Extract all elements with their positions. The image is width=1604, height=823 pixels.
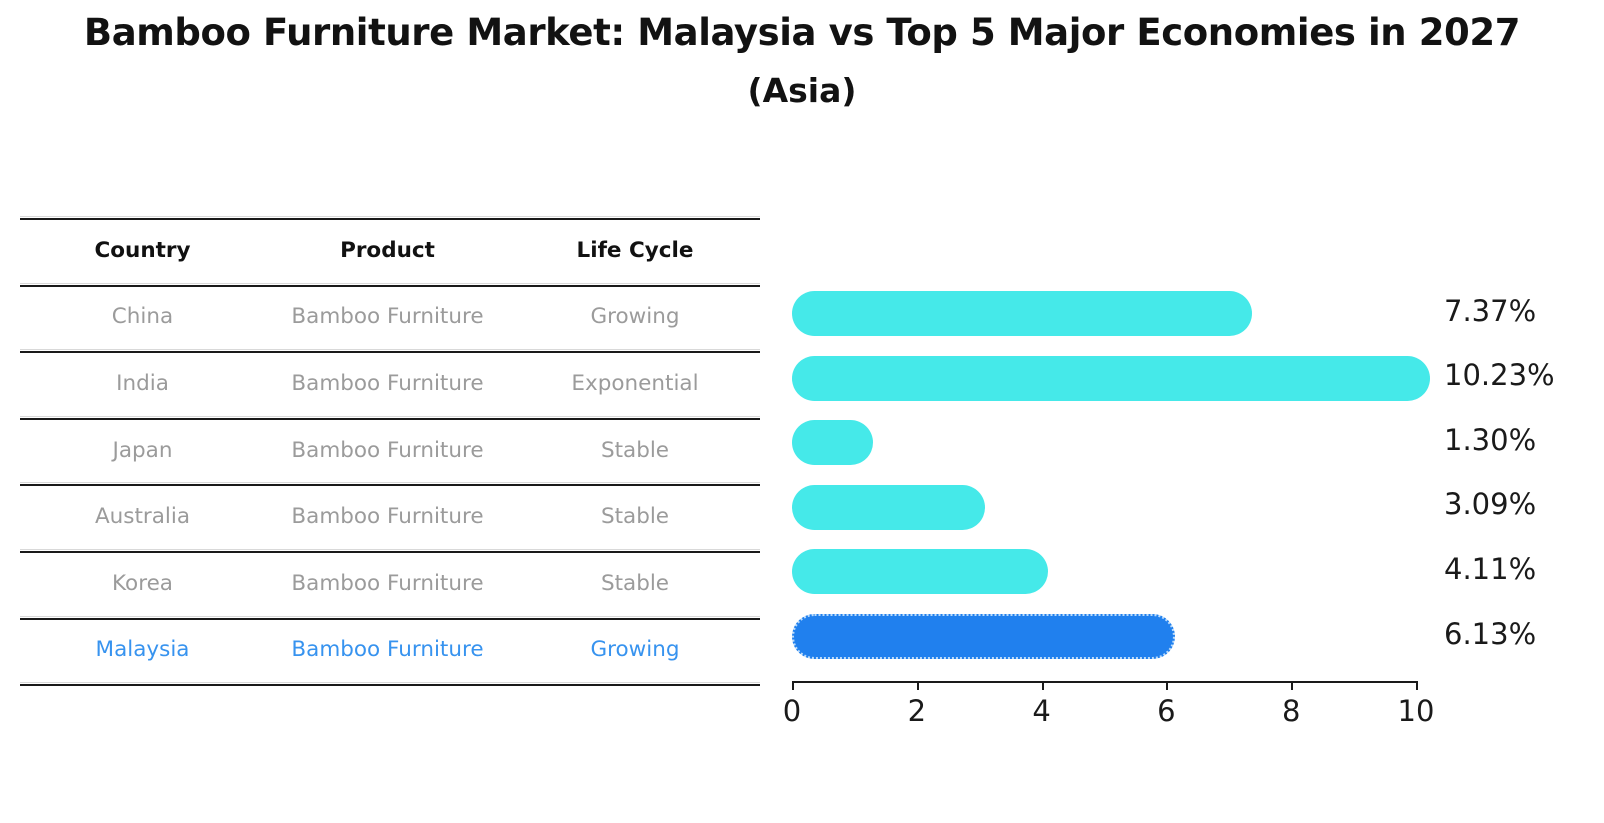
x-axis-tick-label: 6 xyxy=(1136,694,1196,728)
table-row-india-product: Bamboo Furniture xyxy=(265,371,510,396)
x-axis-tick-label: 0 xyxy=(762,694,822,728)
table-row-korea[interactable]: KoreaBamboo FurnitureStable xyxy=(20,551,760,616)
x-axis-tick-label: 2 xyxy=(887,694,947,728)
value-label-india: 10.23% xyxy=(1444,358,1555,392)
bar-japan[interactable] xyxy=(792,420,873,465)
table-row-malaysia-product: Bamboo Furniture xyxy=(265,637,510,662)
table-header-row[interactable]: CountryProductLife Cycle xyxy=(20,218,760,283)
table-row-korea-product: Bamboo Furniture xyxy=(265,571,510,596)
value-label-malaysia: 6.13% xyxy=(1444,617,1536,651)
bar-korea[interactable] xyxy=(792,549,1048,594)
table-row-korea-life-cycle: Stable xyxy=(510,571,760,596)
table-divider xyxy=(20,416,760,417)
table-row-india-country: India xyxy=(20,371,265,396)
table-header-row-product: Product xyxy=(265,238,510,263)
table-row-malaysia-country: Malaysia xyxy=(20,637,265,662)
table-row-australia[interactable]: AustraliaBamboo FurnitureStable xyxy=(20,484,760,549)
table-row-australia-country: Australia xyxy=(20,504,265,529)
bars-layer xyxy=(766,216,1436,682)
table-row-china-product: Bamboo Furniture xyxy=(265,304,510,329)
table-row-japan[interactable]: JapanBamboo FurnitureStable xyxy=(20,418,760,483)
x-axis-line xyxy=(792,681,1418,683)
table-row-korea-country: Korea xyxy=(20,571,265,596)
page-title: Bamboo Furniture Market: Malaysia vs Top… xyxy=(0,8,1604,58)
table-divider xyxy=(20,216,760,217)
table-row-malaysia-life-cycle: Growing xyxy=(510,637,760,662)
table-row-malaysia[interactable]: MalaysiaBamboo FurnitureGrowing xyxy=(20,618,760,683)
page-subtitle: (Asia) xyxy=(0,67,1604,115)
x-axis-tick xyxy=(792,681,794,690)
value-label-china: 7.37% xyxy=(1444,294,1536,328)
table-row-china-life-cycle: Growing xyxy=(510,304,760,329)
value-label-korea: 4.11% xyxy=(1444,552,1536,586)
table-row-australia-product: Bamboo Furniture xyxy=(265,504,510,529)
table-row-china-country: China xyxy=(20,304,265,329)
chart-page: Bamboo Furniture Market: Malaysia vs Top… xyxy=(0,0,1604,823)
table-row-japan-product: Bamboo Furniture xyxy=(265,438,510,463)
x-axis-tick xyxy=(917,681,919,690)
table-divider xyxy=(20,482,760,483)
table-row-india[interactable]: IndiaBamboo FurnitureExponential xyxy=(20,351,760,416)
table-header-row-country: Country xyxy=(20,238,265,263)
table-row-china[interactable]: ChinaBamboo FurnitureGrowing xyxy=(20,285,760,350)
table-divider xyxy=(20,682,760,683)
x-axis-tick-label: 8 xyxy=(1261,694,1321,728)
title-block: Bamboo Furniture Market: Malaysia vs Top… xyxy=(0,8,1604,115)
value-label-japan: 1.30% xyxy=(1444,423,1536,457)
table-divider xyxy=(20,684,760,686)
value-label-australia: 3.09% xyxy=(1444,487,1536,521)
value-labels-layer: 7.37%10.23%1.30%3.09%4.11%6.13% xyxy=(1444,216,1604,682)
x-axis-tick-label: 4 xyxy=(1012,694,1072,728)
country-table: CountryProductLife CycleChinaBamboo Furn… xyxy=(20,216,760,680)
table-divider xyxy=(20,616,760,617)
bar-australia[interactable] xyxy=(792,485,985,530)
x-axis-tick-label: 10 xyxy=(1386,694,1446,728)
x-axis-tick xyxy=(1416,681,1418,690)
table-row-japan-country: Japan xyxy=(20,438,265,463)
x-axis-tick xyxy=(1042,681,1044,690)
x-axis-tick xyxy=(1166,681,1168,690)
x-axis-tick xyxy=(1291,681,1293,690)
table-row-japan-life-cycle: Stable xyxy=(510,438,760,463)
table-row-australia-life-cycle: Stable xyxy=(510,504,760,529)
table-row-india-life-cycle: Exponential xyxy=(510,371,760,396)
bar-chart-plot: 0246810 xyxy=(766,216,1436,682)
bar-malaysia[interactable] xyxy=(792,614,1175,659)
bar-india[interactable] xyxy=(792,356,1430,401)
table-divider xyxy=(20,349,760,350)
table-divider xyxy=(20,549,760,550)
table-header-row-life-cycle: Life Cycle xyxy=(510,238,760,263)
bar-china[interactable] xyxy=(792,291,1252,336)
table-divider xyxy=(20,283,760,284)
